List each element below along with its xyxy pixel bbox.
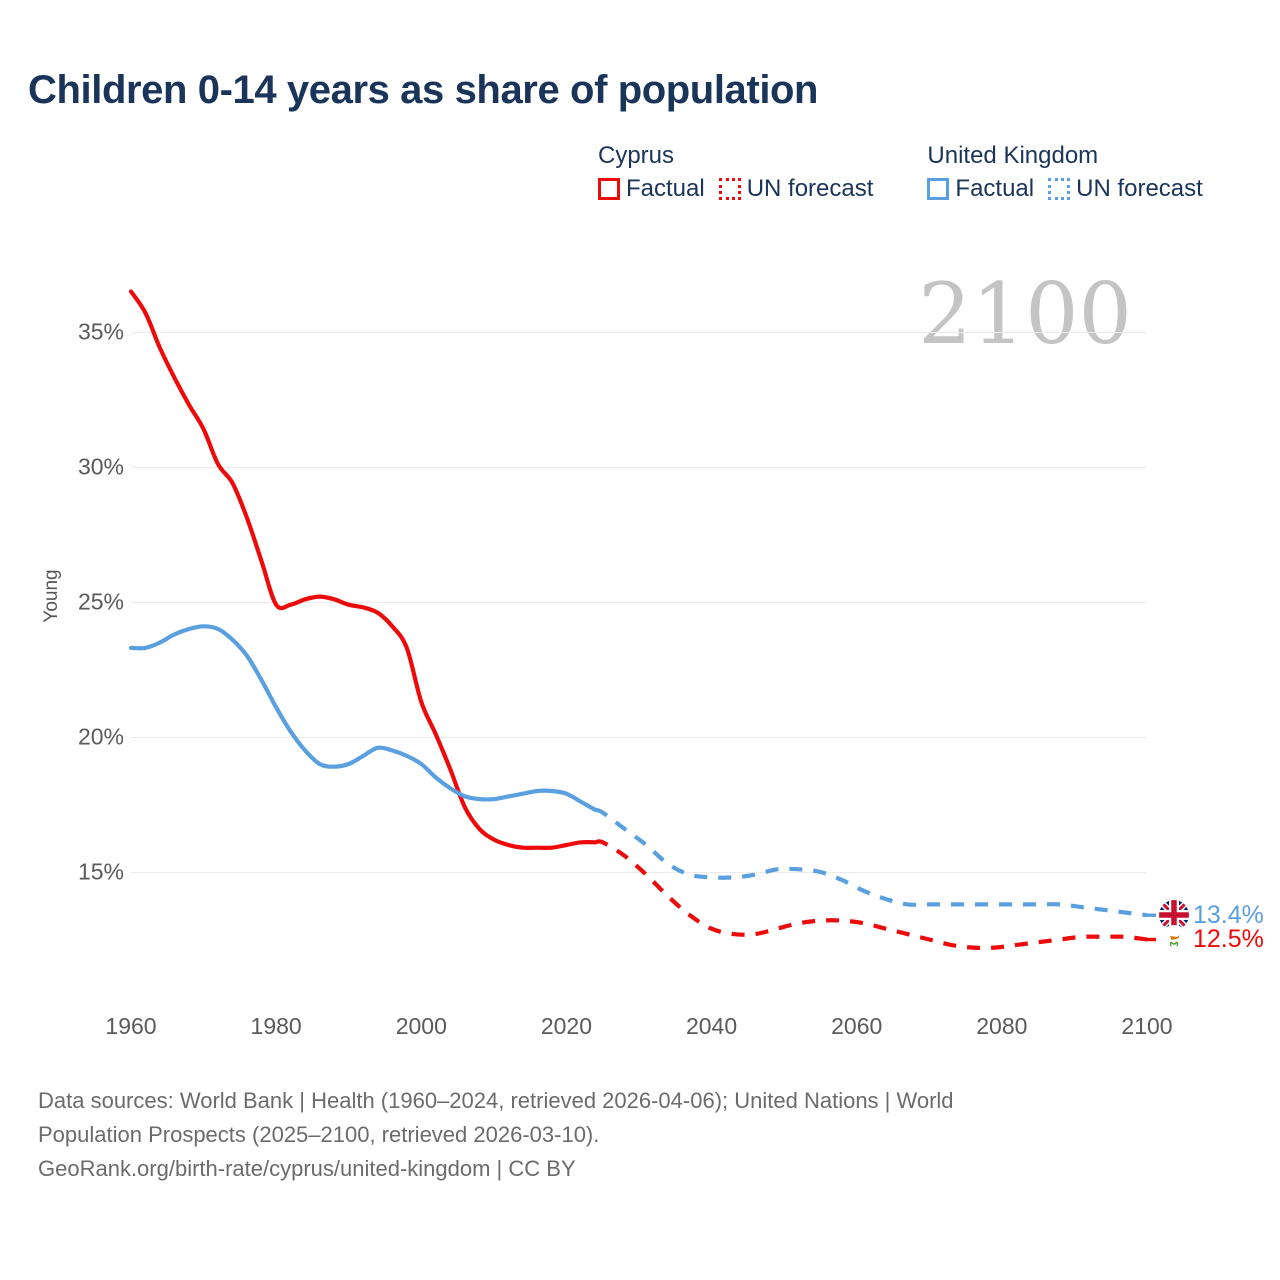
footer-credits: Data sources: World Bank | Health (1960–…	[38, 1084, 1188, 1186]
footer-line-1: Data sources: World Bank | Health (1960–…	[38, 1084, 1188, 1118]
plot-area: Young 35%30%25%20%15% 196019802000202020…	[0, 0, 1280, 1060]
end-label-value: 12.5%	[1193, 925, 1264, 954]
line-forecast-uk	[595, 810, 1147, 915]
chart-root: Children 0-14 years as share of populati…	[0, 0, 1280, 1280]
series-lines	[0, 0, 1280, 1060]
footer-line-2: Population Prospects (2025–2100, retriev…	[38, 1118, 1188, 1152]
line-forecast-cyprus	[595, 841, 1147, 948]
cyprus-flag-icon	[1159, 925, 1189, 955]
end-label-cyprus: 12.5%	[1159, 925, 1264, 955]
line-factual-uk	[131, 626, 595, 810]
line-factual-cyprus	[131, 292, 595, 848]
footer-line-3[interactable]: GeoRank.org/birth-rate/cyprus/united-kin…	[38, 1152, 1188, 1186]
